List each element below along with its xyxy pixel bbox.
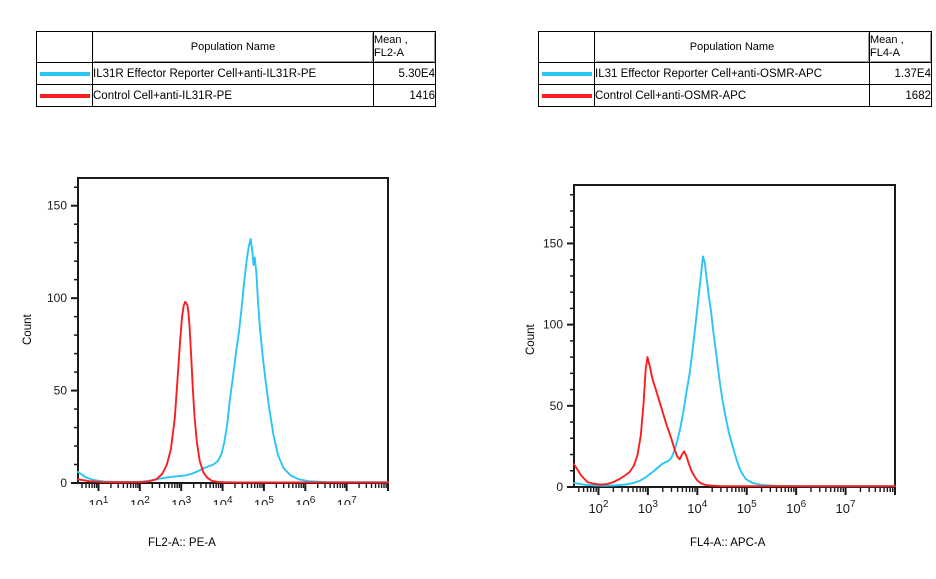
svg-text:100: 100 bbox=[47, 291, 67, 305]
legend-population-name: IL31R Effector Reporter Cell+anti-IL31R-… bbox=[93, 63, 374, 85]
legend-mean-header: Mean , FL4-A bbox=[870, 32, 932, 63]
legend-population-name: Control Cell+anti-OSMR-APC bbox=[595, 85, 870, 107]
histogram-svg-right: 050100150102103104105106107 bbox=[500, 168, 936, 513]
svg-text:103: 103 bbox=[171, 495, 191, 505]
histogram-plot-left: 050100150101102103104105106107 bbox=[0, 160, 440, 505]
svg-text:50: 50 bbox=[550, 399, 564, 413]
legend-line-cyan bbox=[40, 72, 90, 76]
legend-mean-header: Mean , FL2-A bbox=[374, 32, 436, 63]
legend-mean-header-line1: Mean , bbox=[374, 34, 408, 46]
legend-row: Control Cell+anti-IL31R-PE 1416 bbox=[37, 85, 436, 107]
legend-line-red bbox=[40, 94, 90, 98]
legend-table-right: Population Name Mean , FL4-A IL31 Effect… bbox=[538, 31, 932, 107]
legend-color-swatch bbox=[37, 85, 93, 107]
svg-text:107: 107 bbox=[337, 495, 357, 505]
svg-text:102: 102 bbox=[130, 495, 150, 505]
legend-mean-value: 1416 bbox=[374, 85, 436, 107]
legend-name-header: Population Name bbox=[93, 32, 374, 63]
legend-mean-header-line2: FL2-A bbox=[374, 47, 404, 59]
svg-text:0: 0 bbox=[60, 476, 67, 490]
svg-text:50: 50 bbox=[54, 384, 68, 398]
svg-text:150: 150 bbox=[543, 236, 563, 250]
legend-swatch-header bbox=[37, 32, 93, 63]
legend-line-red bbox=[542, 94, 592, 98]
svg-text:104: 104 bbox=[687, 499, 707, 513]
legend-mean-value: 1.37E4 bbox=[870, 63, 932, 85]
legend-table-left: Population Name Mean , FL2-A IL31R Effec… bbox=[36, 31, 436, 107]
svg-text:150: 150 bbox=[47, 199, 67, 213]
histogram-svg-left: 050100150101102103104105106107 bbox=[0, 160, 440, 505]
legend-color-swatch bbox=[539, 85, 595, 107]
svg-text:100: 100 bbox=[543, 318, 563, 332]
legend-color-swatch bbox=[539, 63, 595, 85]
legend-color-swatch bbox=[37, 63, 93, 85]
svg-text:101: 101 bbox=[88, 495, 108, 505]
legend-line-cyan bbox=[542, 72, 592, 76]
panel-fl2-pe: Population Name Mean , FL2-A IL31R Effec… bbox=[0, 0, 468, 579]
legend-mean-value: 1682 bbox=[870, 85, 932, 107]
legend-name-header: Population Name bbox=[595, 32, 870, 63]
svg-text:103: 103 bbox=[638, 499, 658, 513]
svg-text:104: 104 bbox=[213, 495, 233, 505]
legend-population-name: Control Cell+anti-IL31R-PE bbox=[93, 85, 374, 107]
legend-population-name: IL31 Effector Reporter Cell+anti-OSMR-AP… bbox=[595, 63, 870, 85]
svg-text:106: 106 bbox=[295, 495, 315, 505]
histogram-plot-right: 050100150102103104105106107 bbox=[500, 168, 936, 513]
svg-text:105: 105 bbox=[254, 495, 274, 505]
legend-mean-value: 5.30E4 bbox=[374, 63, 436, 85]
x-axis-label-right: FL4-A:: APC-A bbox=[690, 537, 765, 549]
y-axis-label-right: Count bbox=[525, 324, 537, 355]
legend-swatch-header bbox=[539, 32, 595, 63]
legend-mean-header-line1: Mean , bbox=[870, 34, 904, 46]
legend-row: Control Cell+anti-OSMR-APC 1682 bbox=[539, 85, 932, 107]
svg-text:105: 105 bbox=[737, 499, 757, 513]
legend-row: IL31R Effector Reporter Cell+anti-IL31R-… bbox=[37, 63, 436, 85]
legend-row: IL31 Effector Reporter Cell+anti-OSMR-AP… bbox=[539, 63, 932, 85]
svg-text:0: 0 bbox=[556, 480, 563, 494]
legend-mean-header-line2: FL4-A bbox=[870, 47, 900, 59]
svg-text:106: 106 bbox=[786, 499, 806, 513]
y-axis-label-left: Count bbox=[22, 314, 34, 345]
legend-header-row: Population Name Mean , FL2-A bbox=[37, 32, 436, 63]
panel-fl4-apc: Population Name Mean , FL4-A IL31 Effect… bbox=[500, 0, 936, 579]
svg-text:102: 102 bbox=[588, 499, 608, 513]
svg-text:107: 107 bbox=[836, 499, 856, 513]
legend-header-row: Population Name Mean , FL4-A bbox=[539, 32, 932, 63]
x-axis-label-left: FL2-A:: PE-A bbox=[148, 537, 216, 549]
